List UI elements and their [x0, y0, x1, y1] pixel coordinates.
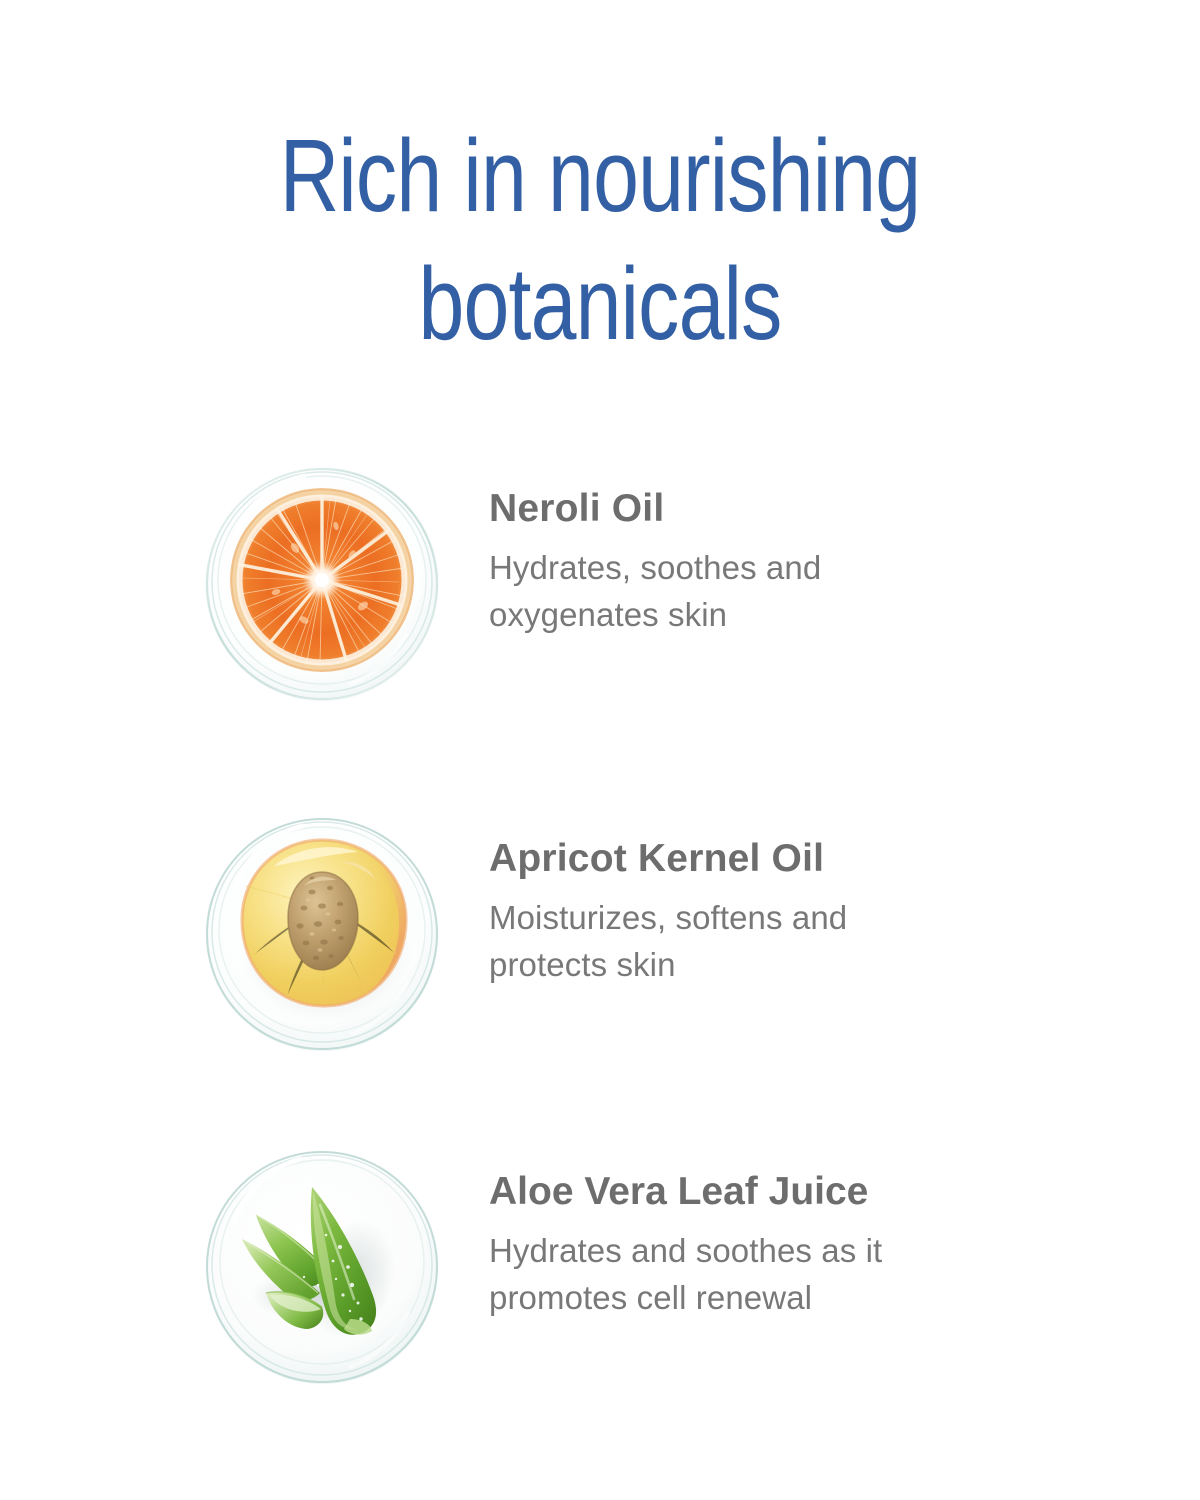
aloe-vera-leaf-icon	[200, 1143, 444, 1387]
list-item: Apricot Kernel Oil Moisturizes, softens …	[0, 805, 1200, 1055]
ingredient-text-block: Aloe Vera Leaf Juice Hydrates and soothe…	[489, 1170, 1089, 1321]
ingredient-text-block: Neroli Oil Hydrates, soothes and oxygena…	[489, 487, 1089, 638]
ingredient-list: Neroli Oil Hydrates, soothes and oxygena…	[0, 0, 1200, 1500]
ingredient-description: Moisturizes, softens and protects skin	[489, 894, 959, 988]
ingredient-name: Apricot Kernel Oil	[489, 837, 1089, 881]
ingredient-name: Neroli Oil	[489, 487, 1089, 531]
orange-slice-icon	[200, 460, 444, 704]
ingredient-name: Aloe Vera Leaf Juice	[489, 1170, 1089, 1214]
aloe-vera-leaves-in-petri-dish-image	[200, 1143, 444, 1387]
orange-slice-in-petri-dish-image	[200, 460, 444, 704]
apricot-half-in-petri-dish-image	[200, 810, 444, 1054]
list-item: Neroli Oil Hydrates, soothes and oxygena…	[0, 455, 1200, 705]
ingredient-description: Hydrates, soothes and oxygenates skin	[489, 544, 959, 638]
product-infographic: Rich in nourishing botanicals	[0, 0, 1200, 1500]
apricot-half-icon	[200, 810, 444, 1054]
list-item: Aloe Vera Leaf Juice Hydrates and soothe…	[0, 1138, 1200, 1388]
ingredient-text-block: Apricot Kernel Oil Moisturizes, softens …	[489, 837, 1089, 988]
ingredient-description: Hydrates and soothes as it promotes cell…	[489, 1227, 1009, 1321]
